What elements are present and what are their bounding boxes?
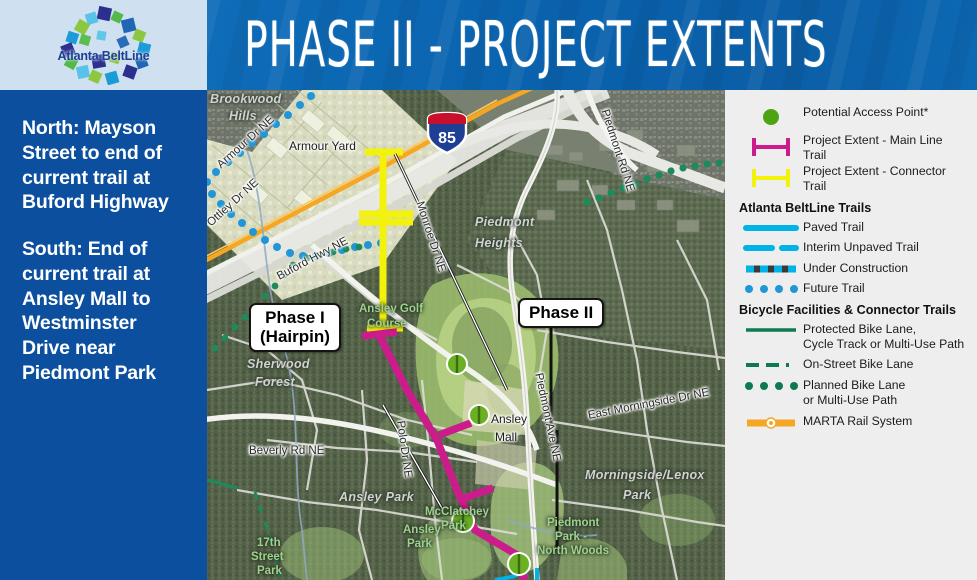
legend-row-interim-unpaved: Interim Unpaved Trail [739,239,967,255]
legend-label-planned-bike-lane-1: Planned Bike Lane [803,378,905,393]
atlanta-beltline-logo-icon: Atlanta BeltLine [50,5,158,85]
legend-label-paved-trail: Paved Trail [803,219,864,235]
legend-label-planned-bike-lane-2: or Multi-Use Path [803,393,905,408]
map-legend: Potential Access Point* Project Extent -… [725,90,977,580]
callout-phase-2-line1: Phase II [529,303,593,322]
sidebar-paragraph-north: North: Mayson Street to end of current t… [22,116,189,215]
legend-row-protected-bike-lane: Protected Bike Lane, Cycle Track or Mult… [739,321,967,351]
callout-phase-2[interactable]: Phase II [518,298,604,328]
project-map[interactable]: 85 Brookwood Hills Piedmont Heights Sher… [207,90,725,580]
legend-label-access-point: Potential Access Point* [803,104,928,120]
legend-label-protected-bike-lane-1: Protected Bike Lane, [803,322,964,337]
dotted-line-blue-icon [739,280,803,295]
legend-heading-beltline-trails: Atlanta BeltLine Trails [739,201,967,215]
marta-rail-icon [739,413,803,430]
legend-label-interim-unpaved: Interim Unpaved Trail [803,239,919,255]
legend-row-planned-bike-lane: Planned Bike Lane or Multi-Use Path [739,377,967,407]
poster-root: Atlanta BeltLine PHASE II - PROJECT EXTE… [0,0,977,580]
callout-phase-1[interactable]: Phase I (Hairpin) [249,303,341,352]
construction-line-icon [739,260,803,275]
solid-line-green-icon [739,321,803,336]
legend-label-protected-bike-lane-2: Cycle Track or Multi-Use Path [803,337,964,352]
legend-row-access-point: Potential Access Point* [739,104,967,127]
page-title: PHASE II - PROJECT EXTENTS [207,9,828,81]
legend-heading-bicycle-facilities: Bicycle Facilities & Connector Trails [739,303,967,317]
page-header: Atlanta BeltLine PHASE II - PROJECT EXTE… [0,0,977,90]
extent-bracket-yellow-icon [739,163,803,190]
legend-row-paved-trail: Paved Trail [739,219,967,235]
callout-phase-1-line2: (Hairpin) [260,327,330,346]
dotted-line-green-icon [739,377,803,392]
legend-label-under-construction: Under Construction [803,260,908,276]
svg-text:85: 85 [438,130,456,147]
legend-row-on-street-bike-lane: On-Street Bike Lane [739,356,967,372]
legend-label-marta: MARTA Rail System [803,413,912,429]
dashed-line-cyan-icon [739,239,803,254]
header-banner: PHASE II - PROJECT EXTENTS [207,0,977,90]
solid-line-cyan-icon [739,219,803,234]
legend-label-connector: Project Extent - Connector Trail [803,163,967,193]
sidebar-paragraph-south: South: End of current trail at Ansley Ma… [22,237,189,386]
description-sidebar: North: Mayson Street to end of current t… [0,90,207,580]
legend-row-marta: MARTA Rail System [739,413,967,430]
legend-row-connector: Project Extent - Connector Trail [739,163,967,193]
legend-row-main-line: Project Extent - Main Line Trail [739,132,967,162]
legend-label-on-street-bike-lane: On-Street Bike Lane [803,356,913,372]
callout-phase-1-line1: Phase I [260,308,330,327]
green-dot-icon [739,104,803,127]
extent-bracket-magenta-icon [739,132,803,159]
legend-row-under-construction: Under Construction [739,260,967,276]
legend-label-future-trail: Future Trail [803,280,865,296]
logo-wordmark: Atlanta BeltLine [50,49,158,63]
dashed-line-green-icon [739,356,803,371]
legend-label-main-line: Project Extent - Main Line Trail [803,132,967,162]
logo-panel: Atlanta BeltLine [0,0,207,90]
legend-row-future-trail: Future Trail [739,280,967,296]
